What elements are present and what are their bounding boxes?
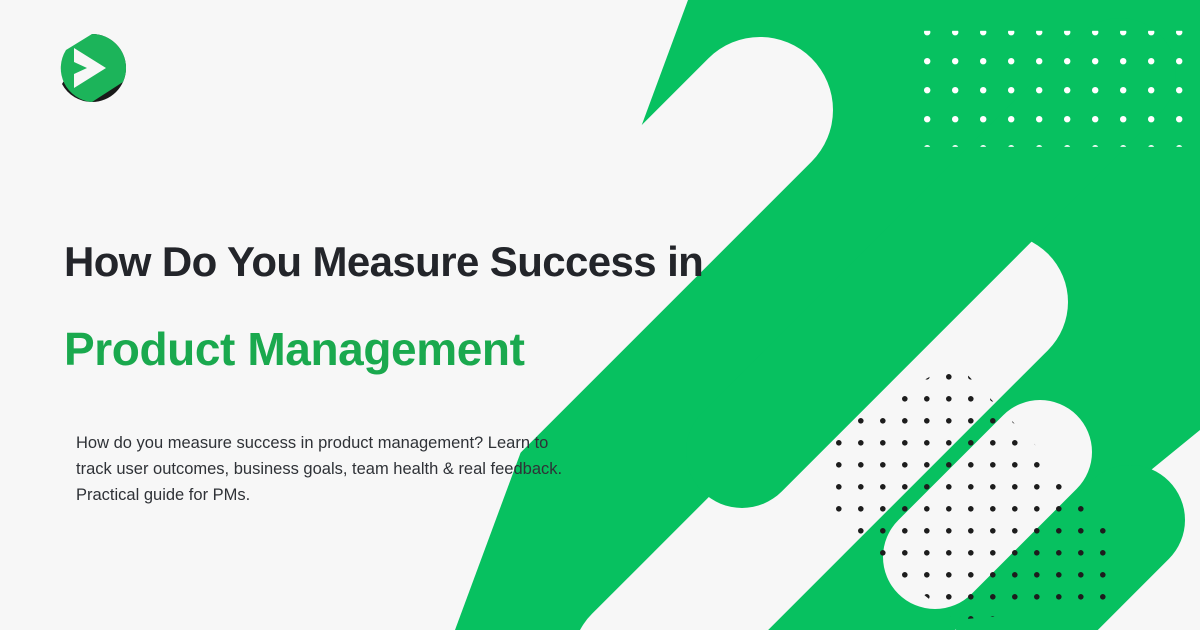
page-description: How do you measure success in product ma…	[76, 430, 576, 508]
social-share-card: How Do You Measure Success in Product Ma…	[0, 0, 1200, 630]
page-title-line-1: How Do You Measure Success in	[64, 236, 703, 288]
page-title-line-2: Product Management	[64, 320, 525, 378]
brand-logo-icon[interactable]	[54, 30, 130, 106]
